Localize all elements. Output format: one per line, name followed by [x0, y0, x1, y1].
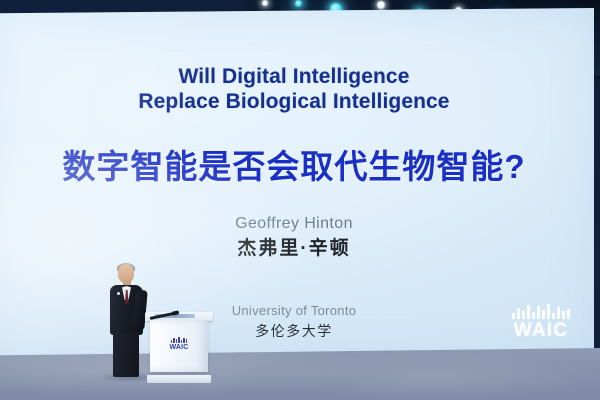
speaker-block: Geoffrey Hinton 杰弗里·辛顿	[0, 213, 594, 262]
speaker-name-english: Geoffrey Hinton	[0, 213, 594, 235]
stage-floor	[0, 348, 600, 400]
presentation-screen: Will Digital Intelligence Replace Biolog…	[0, 8, 594, 358]
waic-logo: WAIC	[500, 304, 582, 344]
podium-skyline-icon	[166, 336, 192, 343]
conference-stage: Will Digital Intelligence Replace Biolog…	[0, 0, 600, 400]
podium-base	[147, 375, 211, 383]
slide-content: Will Digital Intelligence Replace Biolog…	[0, 8, 594, 358]
slide-title-chinese: 数字智能是否会取代生物智能?	[0, 148, 594, 186]
speaker-name-chinese: 杰弗里·辛顿	[0, 236, 594, 262]
stage-light-cyan-9	[295, 0, 302, 7]
stage-light-white-8	[262, 0, 268, 6]
podium-waic-logo: WAIC	[166, 336, 192, 352]
podium: WAIC	[148, 312, 210, 378]
title-en-line-1: Will Digital Intelligence	[0, 64, 594, 89]
speaker-arm	[132, 290, 147, 331]
city-skyline-icon	[500, 304, 582, 319]
microphone	[150, 308, 178, 320]
lapel-pin-icon	[117, 292, 120, 295]
speaker-figure	[104, 264, 150, 376]
podium-waic-wordmark: WAIC	[166, 344, 192, 352]
speaker-legs	[113, 333, 139, 377]
stage-light-white-2	[377, 1, 385, 9]
title-en-line-2: Replace Biological Intelligence	[0, 89, 594, 114]
slide-title-english: Will Digital Intelligence Replace Biolog…	[0, 64, 594, 114]
waic-wordmark: WAIC	[500, 321, 582, 341]
